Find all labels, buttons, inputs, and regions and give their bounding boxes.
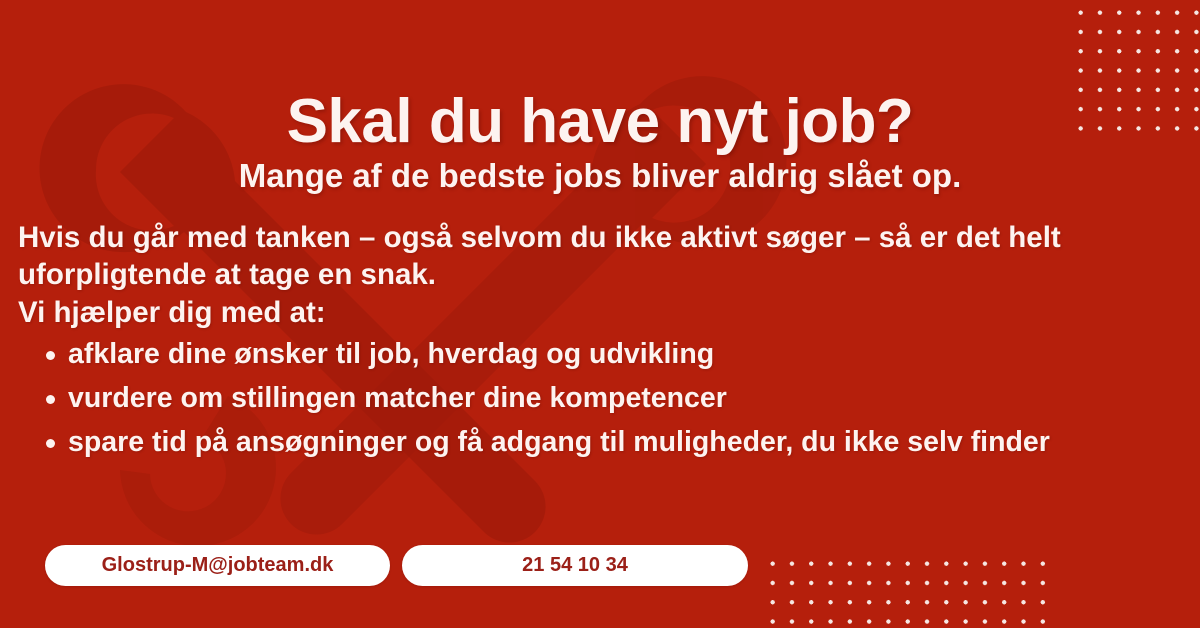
- benefit-list-item-label: spare tid på ansøgninger og få adgang ti…: [68, 426, 1050, 458]
- contact-email-label: Glostrup-M@jobteam.dk: [102, 554, 334, 577]
- bullet-dot-icon: [46, 395, 55, 404]
- bullet-dot-icon: [46, 351, 55, 360]
- benefit-list-item: vurdere om stillingen matcher dine kompe…: [18, 380, 1186, 418]
- body-copy: Hvis du går med tanken – også selvom du …: [18, 219, 1186, 467]
- benefit-list: afklare dine ønsker til job, hverdag og …: [18, 336, 1186, 461]
- body-paragraph-1: Hvis du går med tanken – også selvom du …: [18, 219, 1186, 294]
- subheadline: Mange af de bedste jobs bliver aldrig sl…: [0, 158, 1200, 194]
- benefit-list-item-label: afklare dine ønsker til job, hverdag og …: [68, 338, 714, 370]
- banner-content: Skal du have nyt job? Mange af de bedste…: [0, 0, 1200, 628]
- bullet-dot-icon: [46, 439, 55, 448]
- headline: Skal du have nyt job?: [0, 89, 1200, 154]
- benefit-list-item: afklare dine ønsker til job, hverdag og …: [18, 336, 1186, 374]
- benefit-list-item-label: vurdere om stillingen matcher dine kompe…: [68, 382, 727, 414]
- contact-email-pill[interactable]: Glostrup-M@jobteam.dk: [45, 545, 390, 586]
- contact-row: Glostrup-M@jobteam.dk 21 54 10 34: [45, 545, 748, 586]
- contact-phone-label: 21 54 10 34: [522, 554, 628, 577]
- body-paragraph-2: Vi hjælper dig med at:: [18, 294, 1186, 331]
- benefit-list-item: spare tid på ansøgninger og få adgang ti…: [18, 424, 1186, 462]
- job-ad-banner: Skal du have nyt job? Mange af de bedste…: [0, 0, 1200, 628]
- contact-phone-pill[interactable]: 21 54 10 34: [402, 545, 748, 586]
